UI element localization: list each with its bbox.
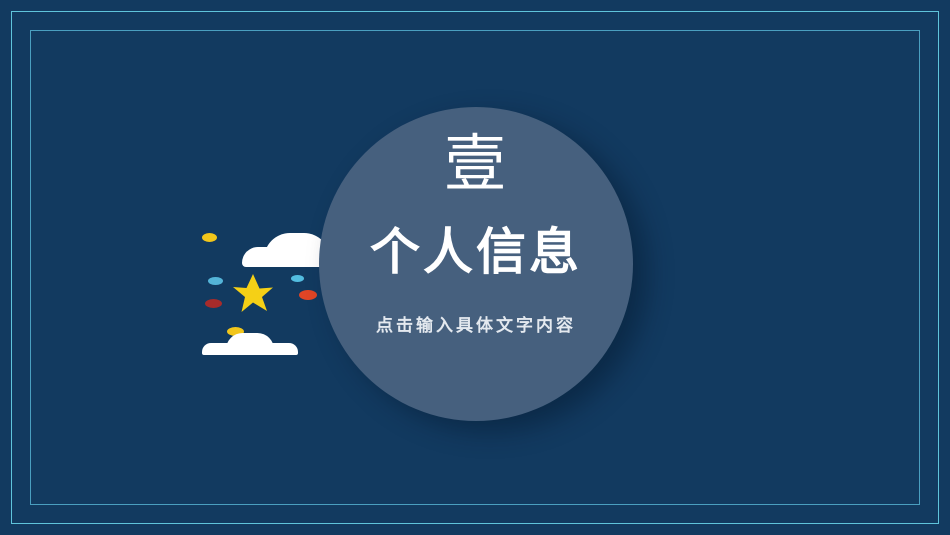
cloud-lower bbox=[198, 333, 302, 365]
circle-text-group: 壹 个人信息 点击输入具体文字内容 bbox=[319, 107, 633, 421]
page-subtitle: 点击输入具体文字内容 bbox=[376, 311, 576, 336]
page-title: 个人信息 bbox=[370, 227, 582, 277]
dot-cyan-small bbox=[291, 275, 304, 282]
slide-canvas: 壹 个人信息 点击输入具体文字内容 bbox=[0, 0, 950, 535]
star-icon bbox=[232, 272, 274, 312]
center-circle: 壹 个人信息 点击输入具体文字内容 bbox=[319, 107, 633, 421]
dot-red-mid bbox=[299, 290, 317, 300]
dot-darkred bbox=[205, 299, 222, 308]
dot-yellow-top bbox=[202, 233, 217, 242]
dot-cyan-left bbox=[208, 277, 223, 285]
section-numeral: 壹 bbox=[444, 133, 508, 195]
